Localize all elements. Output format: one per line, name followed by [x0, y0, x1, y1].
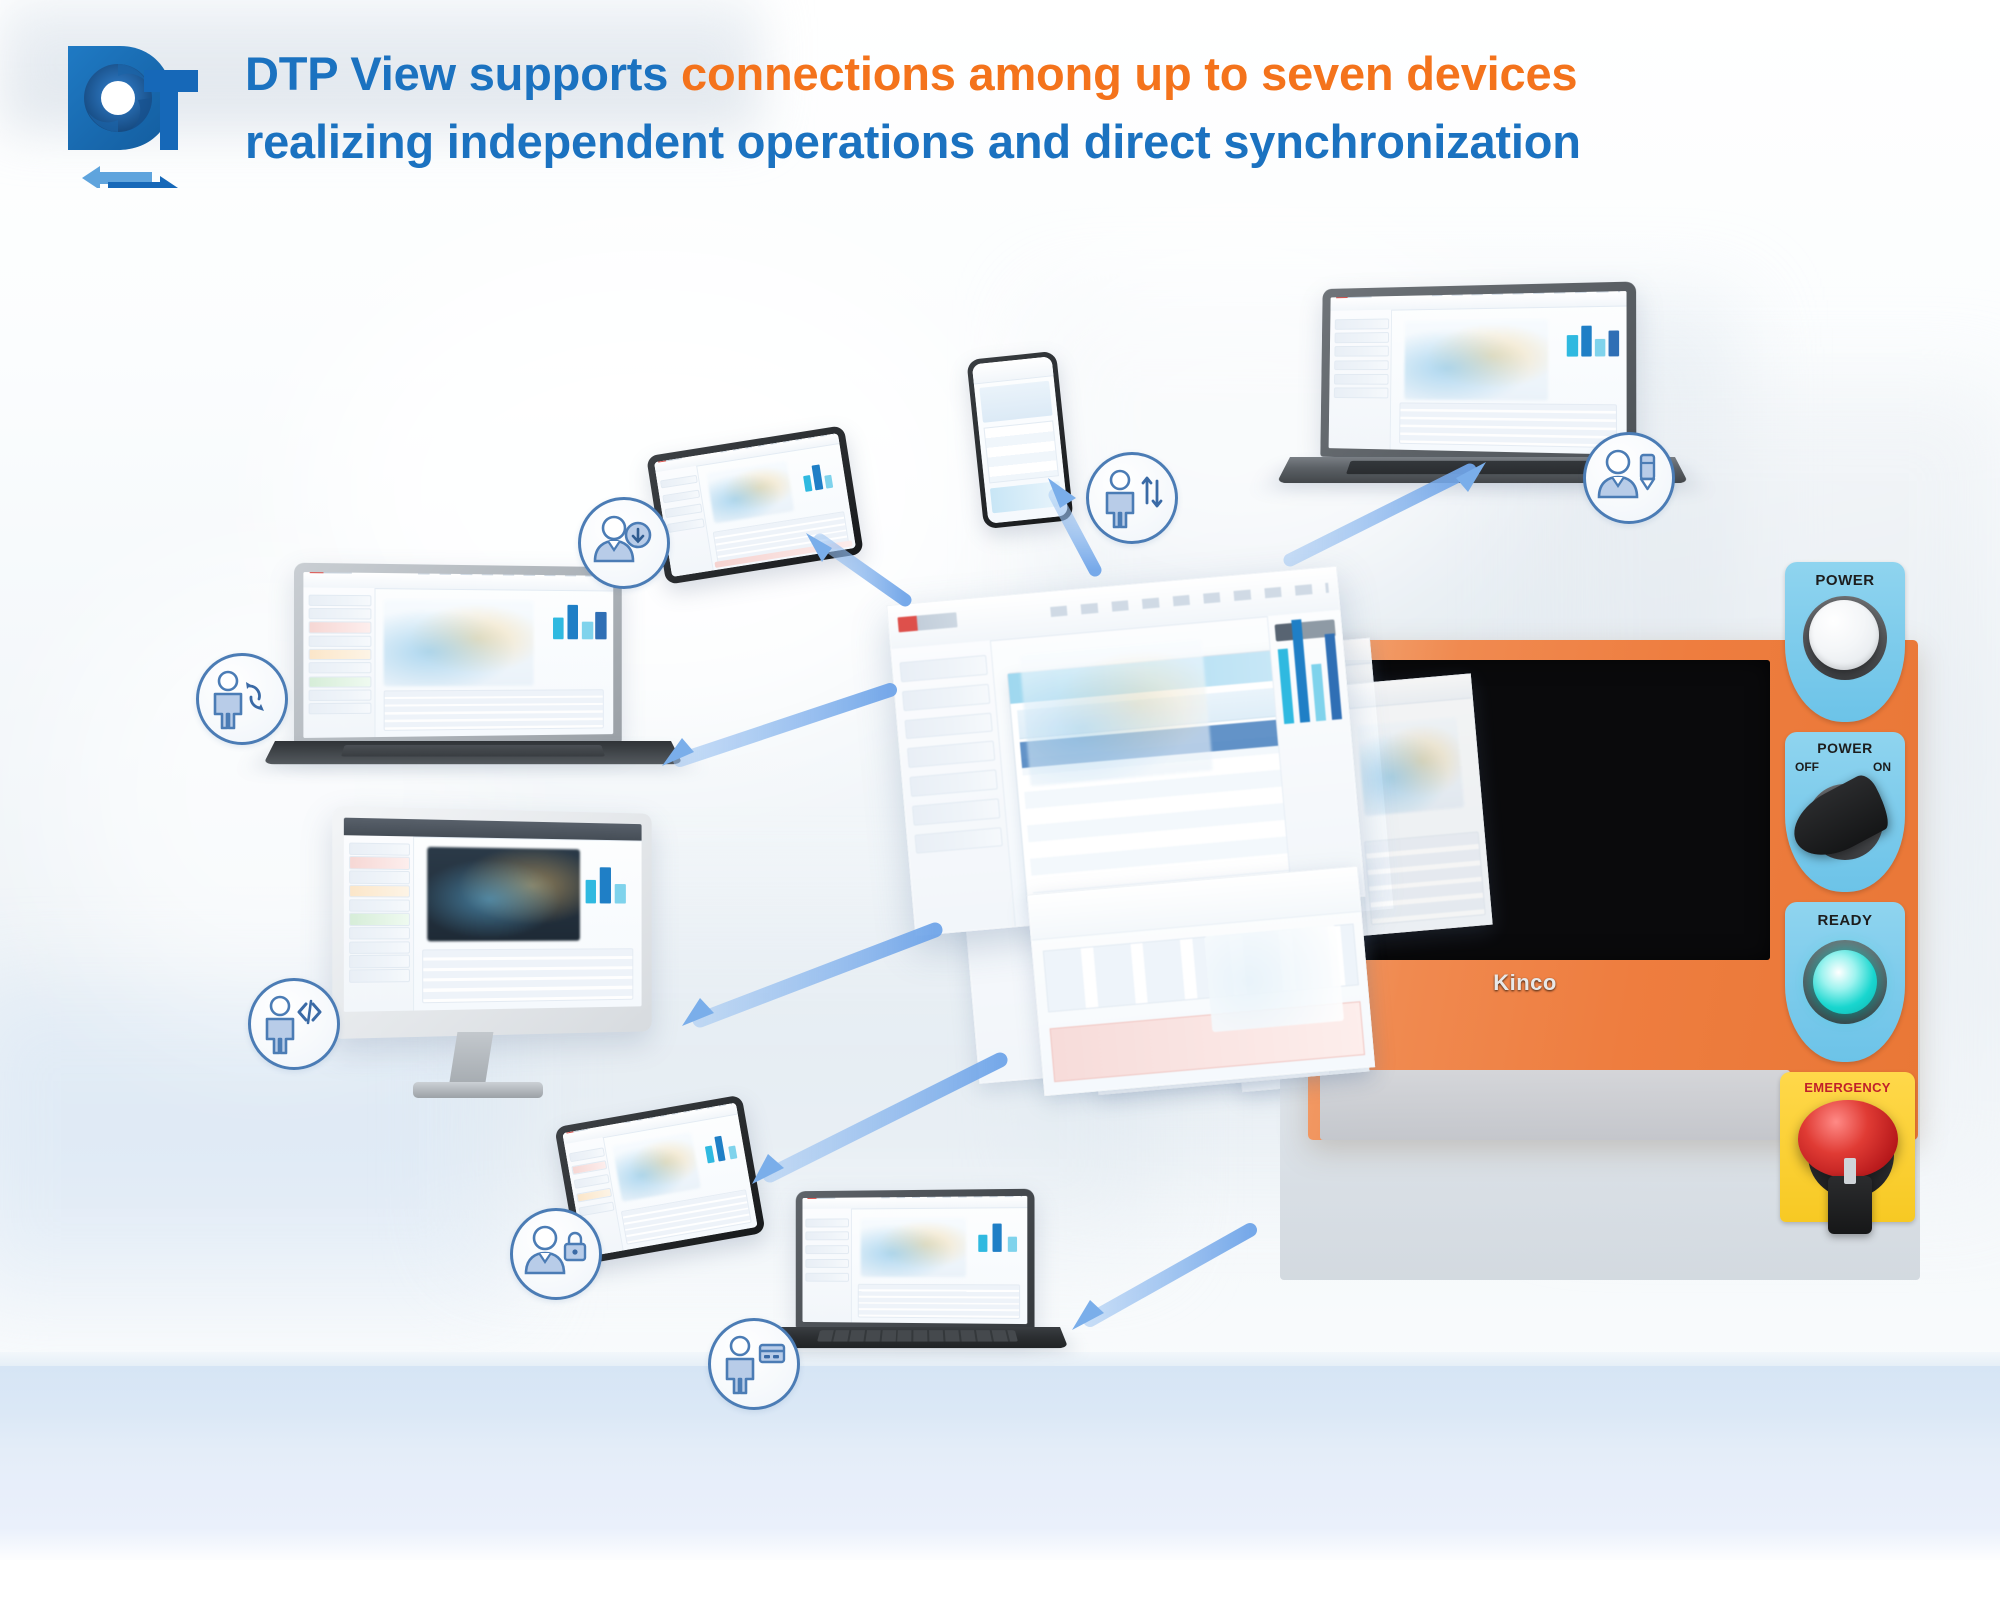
monitor-bezel — [332, 806, 651, 1039]
tablet-screen[interactable] — [654, 433, 856, 577]
sync-arrows-icon — [82, 166, 178, 188]
tablet-body — [646, 425, 864, 585]
headline-line-2: realizing independent operations and dir… — [245, 108, 1985, 176]
desk-surface-lower — [0, 1484, 2000, 1564]
user-download-icon — [595, 517, 650, 561]
header: DTP View supports connections among up t… — [0, 0, 2000, 210]
headline-line-1-blue: DTP View supports — [245, 47, 681, 100]
device-monitor[interactable] — [335, 810, 695, 1100]
laptop-screen[interactable] — [303, 572, 613, 738]
ready-indicator-button[interactable] — [1813, 950, 1877, 1014]
device-laptop-left[interactable] — [275, 565, 675, 795]
role-badge-user-download[interactable] — [578, 497, 670, 589]
monitor-stand-neck — [449, 1032, 494, 1088]
laptop-lid — [294, 563, 622, 748]
emergency-label: EMERGENCY — [1780, 1080, 1915, 1095]
user-sync-icon — [215, 672, 264, 728]
selector-off-label: OFF — [1795, 760, 1819, 774]
role-badge-user-sync[interactable] — [196, 653, 288, 745]
role-badge-user-editor[interactable] — [1583, 432, 1675, 524]
ready-label: READY — [1785, 912, 1905, 929]
dtp-logo-icon — [60, 38, 200, 188]
power-selector-label: POWER — [1785, 740, 1905, 756]
laptop-base — [263, 741, 683, 764]
desk-fade — [0, 1560, 2000, 1608]
ready-plate: READY — [1785, 902, 1905, 1062]
power-indicator-button[interactable] — [1809, 600, 1879, 670]
monitor-screen[interactable] — [344, 818, 642, 1012]
poster-canvas: Kinco POWER POWER OFF ON READY EMERGENCY — [0, 0, 2000, 1608]
monitor-stand-base — [413, 1082, 543, 1098]
role-badge-user-transfer[interactable] — [1086, 452, 1178, 544]
headline-line-1: DTP View supports connections among up t… — [245, 40, 1985, 108]
hmi-lower-bezel — [1320, 1070, 1790, 1140]
headline-line-1-orange: connections among up to seven devices — [681, 47, 1577, 100]
estop-key-shank — [1844, 1158, 1856, 1184]
phone-screen[interactable] — [972, 356, 1068, 523]
estop-key-lock[interactable] — [1828, 1176, 1872, 1234]
role-badge-user-security[interactable] — [510, 1208, 602, 1300]
laptop-screen[interactable] — [802, 1196, 1027, 1324]
selector-on-label: ON — [1873, 760, 1891, 774]
device-tablet-top[interactable] — [655, 440, 855, 570]
emergency-plate: EMERGENCY — [1780, 1072, 1915, 1222]
device-laptop-bottom[interactable] — [775, 1190, 1065, 1390]
device-phone[interactable] — [975, 355, 1065, 525]
user-editor-icon — [1599, 451, 1654, 497]
floating-panel[interactable] — [1027, 866, 1375, 1096]
user-card-icon — [727, 1337, 784, 1393]
laptop-base — [767, 1327, 1069, 1348]
role-badge-user-developer[interactable] — [248, 978, 340, 1070]
power-label: POWER — [1785, 572, 1905, 589]
role-badge-user-card[interactable] — [708, 1318, 800, 1410]
user-security-icon — [526, 1227, 585, 1273]
user-transfer-icon — [1107, 471, 1161, 527]
phone-body — [966, 351, 1073, 529]
laptop-lid — [796, 1189, 1035, 1332]
headline: DTP View supports connections among up t… — [245, 40, 1985, 176]
user-developer-icon — [267, 997, 320, 1053]
power-plate: POWER — [1785, 562, 1905, 722]
laptop-screen[interactable] — [1329, 291, 1627, 455]
power-selector-plate: POWER OFF ON — [1785, 732, 1905, 892]
